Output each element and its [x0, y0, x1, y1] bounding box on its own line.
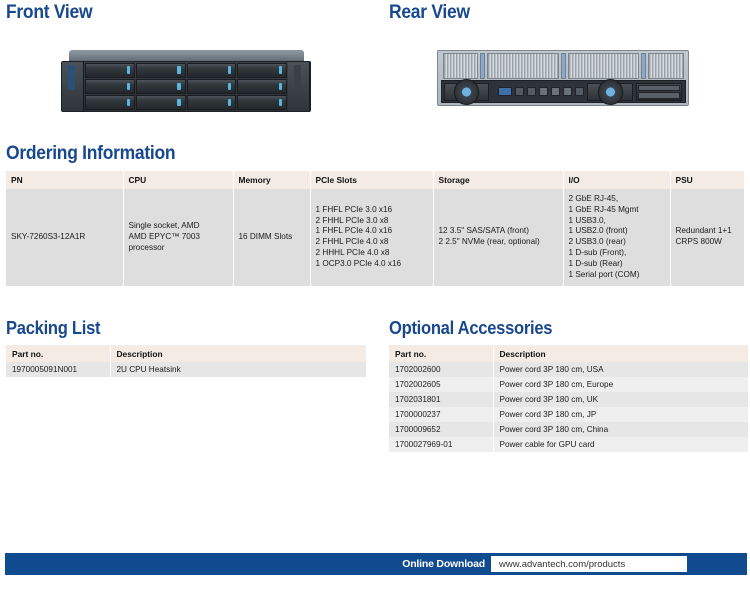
product-views-section: Front View: [0, 0, 750, 132]
column-header-memory: Memory: [233, 171, 310, 189]
column-header-io: I/O: [563, 171, 670, 189]
cell-io: 2 GbE RJ-45, 1 GbE RJ-45 Mgmt 1 USB3.0, …: [563, 189, 670, 286]
ordering-information-heading: Ordering Information: [6, 143, 685, 165]
cell-description: 2U CPU Heatsink: [110, 362, 366, 377]
rj45-port: [539, 87, 548, 96]
table-header-row: Part no. Description: [6, 345, 366, 362]
server-front-illustration: [61, 50, 311, 112]
rear-nvme-bays: [636, 83, 682, 101]
table-row: SKY-7260S3-12A1R Single socket, AMD AMD …: [6, 189, 744, 286]
cell-storage: 12 3.5" SAS/SATA (front) 2 2.5" NVMe (re…: [433, 189, 563, 286]
packing-list-heading: Packing List: [6, 318, 337, 339]
expansion-slot: [443, 53, 478, 79]
drive-bay: [237, 95, 287, 110]
psu-module-left: [444, 83, 490, 101]
table-row: 1702002605 Power cord 3P 180 cm, Europe: [389, 377, 748, 392]
optional-accessories-table: Part no. Description 1702002600 Power co…: [389, 345, 748, 452]
usb-port: [527, 87, 536, 96]
psu-fan-icon: [598, 79, 624, 105]
drive-bay-grid: [84, 62, 287, 111]
cell-psu: Redundant 1+1 CRPS 800W: [670, 189, 744, 286]
drive-bay: [237, 79, 287, 94]
cell-pn: SKY-7260S3-12A1R: [6, 189, 123, 286]
cell-part-no: 1702031801: [389, 392, 493, 407]
packing-list-section: Packing List Part no. Description 197000…: [6, 318, 366, 377]
nvme-bay: [638, 85, 680, 92]
optional-accessories-section: Optional Accessories Part no. Descriptio…: [389, 318, 748, 452]
ordering-information-section: Ordering Information PN CPU Memory PCIe …: [6, 143, 744, 286]
rear-port-cluster: [492, 84, 584, 99]
rear-io-row: [441, 80, 686, 103]
expansion-slot: [487, 53, 559, 79]
table-header-row: Part no. Description: [389, 345, 748, 362]
column-header-part-no: Part no.: [389, 345, 493, 362]
cell-part-no: 1970005091N001: [6, 362, 110, 377]
column-header-psu: PSU: [670, 171, 744, 189]
rear-view-image: [437, 50, 689, 106]
rack-ear-left: [62, 62, 84, 111]
psu-module-right: [587, 83, 633, 101]
cell-part-no: 1700009652: [389, 422, 493, 437]
cell-description: Power cord 3P 180 cm, Europe: [493, 377, 748, 392]
table-header-row: PN CPU Memory PCIe Slots Storage I/O PSU: [6, 171, 744, 189]
drive-bay: [136, 63, 186, 78]
cell-part-no: 1700000237: [389, 407, 493, 422]
serial-port: [575, 87, 584, 96]
column-header-pn: PN: [6, 171, 123, 189]
rj45-port: [551, 87, 560, 96]
ordering-information-table: PN CPU Memory PCIe Slots Storage I/O PSU…: [6, 171, 744, 286]
column-header-description: Description: [110, 345, 366, 362]
drive-bay: [85, 79, 135, 94]
rear-view-heading: Rear View: [389, 2, 470, 24]
front-view-image: [61, 50, 311, 112]
expansion-slot: [648, 53, 683, 79]
cell-part-no: 1702002605: [389, 377, 493, 392]
slot-divider: [641, 53, 646, 79]
front-view-heading: Front View: [6, 2, 92, 24]
drive-bay: [187, 95, 237, 110]
cell-description: Power cord 3P 180 cm, China: [493, 422, 748, 437]
cell-pcie-slots: 1 FHFL PCIe 3.0 x16 2 FHHL PCIe 3.0 x8 1…: [310, 189, 433, 286]
packing-list-table: Part no. Description 1970005091N001 2U C…: [6, 345, 366, 377]
drive-bay: [136, 79, 186, 94]
cell-part-no: 1700027969-01: [389, 437, 493, 452]
psu-fan-icon: [454, 79, 480, 105]
server-rear-illustration: [437, 50, 689, 106]
usb-port: [515, 87, 524, 96]
drive-bay: [136, 95, 186, 110]
table-row: 1700027969-01 Power cable for GPU card: [389, 437, 748, 452]
expansion-slot-row: [441, 53, 686, 79]
dsub-port: [498, 87, 512, 96]
table-row: 1702031801 Power cord 3P 180 cm, UK: [389, 392, 748, 407]
cell-description: Power cord 3P 180 cm, UK: [493, 392, 748, 407]
table-row: 1700000237 Power cord 3P 180 cm, JP: [389, 407, 748, 422]
download-url-link[interactable]: www.advantech.com/products: [491, 556, 687, 572]
drive-bay: [85, 63, 135, 78]
column-header-part-no: Part no.: [6, 345, 110, 362]
drive-bay: [187, 79, 237, 94]
cell-description: Power cord 3P 180 cm, USA: [493, 362, 748, 377]
table-row: 1970005091N001 2U CPU Heatsink: [6, 362, 366, 377]
rj45-mgmt-port: [563, 87, 572, 96]
expansion-slot: [568, 53, 640, 79]
footer-bar: Online Download www.advantech.com/produc…: [5, 553, 747, 575]
chassis-body: [61, 61, 311, 112]
cell-description: Power cord 3P 180 cm, JP: [493, 407, 748, 422]
rack-ear-right: [288, 62, 310, 111]
drive-bay: [237, 63, 287, 78]
column-header-cpu: CPU: [123, 171, 233, 189]
datasheet-page: Front View: [0, 0, 750, 591]
slot-divider: [480, 53, 485, 79]
column-header-pcie-slots: PCIe Slots: [310, 171, 433, 189]
nvme-bay: [638, 92, 680, 99]
column-header-storage: Storage: [433, 171, 563, 189]
cell-cpu: Single socket, AMD AMD EPYC™ 7003 proces…: [123, 189, 233, 286]
column-header-description: Description: [493, 345, 748, 362]
table-row: 1702002600 Power cord 3P 180 cm, USA: [389, 362, 748, 377]
cell-description: Power cable for GPU card: [493, 437, 748, 452]
slot-divider: [561, 53, 566, 79]
optional-accessories-heading: Optional Accessories: [389, 318, 719, 339]
online-download-label: Online Download: [402, 558, 485, 570]
drive-bay: [85, 95, 135, 110]
cell-memory: 16 DIMM Slots: [233, 189, 310, 286]
drive-bay: [187, 63, 237, 78]
cell-part-no: 1702002600: [389, 362, 493, 377]
table-row: 1700009652 Power cord 3P 180 cm, China: [389, 422, 748, 437]
